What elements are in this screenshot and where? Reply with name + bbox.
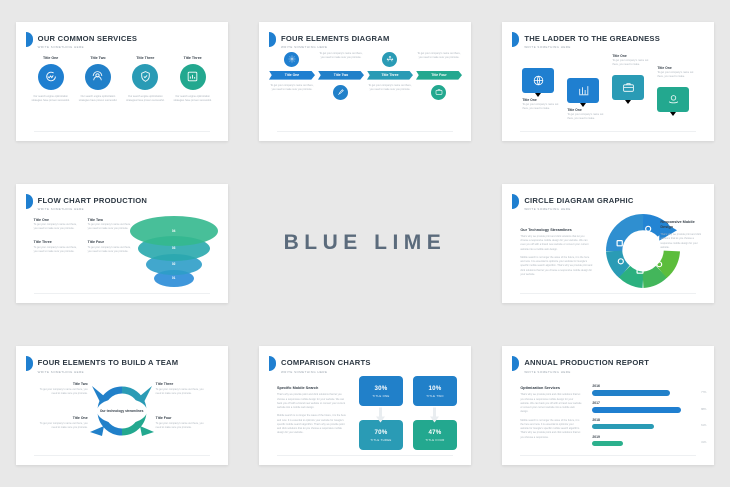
grid-cell-7: FOUR ELEMENTS TO BUILD A TEAM WRITE SOME…: [0, 325, 243, 487]
flow-title: Title Three: [34, 240, 80, 244]
slide-header: FOUR ELEMENTS DIAGRAM WRITE SOMETHING HE…: [281, 34, 390, 50]
grid-cell-3: THE LADDER TO THE GREADNESS WRITE SOMETH…: [487, 0, 730, 162]
bar-category-label: 2017: [592, 401, 706, 405]
ladder-title: Title One: [567, 108, 607, 112]
slide-ladder-to-greatness[interactable]: THE LADDER TO THE GREADNESS WRITE SOMETH…: [502, 22, 714, 141]
funnel-number: 01: [172, 276, 176, 280]
element-item[interactable]: To get your company's name out there, yo…: [416, 52, 462, 100]
slide-subtitle: WRITE SOMETHING HERE: [281, 370, 371, 374]
accent-leaf-icon: [512, 356, 519, 371]
element-text: To get your company's name out there, yo…: [318, 52, 364, 67]
slide-flow-chart-production[interactable]: FLOW CHART PRODUCTION WRITE SOMETHING HE…: [16, 184, 228, 303]
service-label: Title Three: [172, 56, 214, 60]
slide-subtitle: WRITE SOMETHING HERE: [281, 45, 390, 49]
report-left-text: Optimization Services That's why we prov…: [520, 386, 582, 444]
footer-divider: [520, 131, 696, 132]
circle-right-text: Responsive Mobile Design That's why we p…: [660, 220, 704, 250]
slide-title: FOUR ELEMENTS DIAGRAM: [281, 34, 390, 43]
ladder-title: Title One: [657, 66, 697, 70]
flow-text-grid: Title One To get your company's name out…: [34, 218, 134, 254]
flow-title: Title One: [34, 218, 80, 222]
footer-divider: [34, 131, 210, 132]
slide-header: THE LADDER TO THE GREADNESS WRITE SOMETH…: [524, 34, 660, 50]
service-item[interactable]: Title Two Our search engine optimization…: [77, 56, 119, 104]
ladder-title: Title One: [522, 98, 562, 102]
team-label: Title Four To get your company's name ou…: [156, 416, 206, 430]
funnel-level-4: 04: [130, 216, 218, 246]
chart-icon: [180, 64, 206, 90]
brand-logo-panel: BLUE LIME: [259, 184, 471, 303]
ladder-bubble[interactable]: [612, 75, 644, 100]
flow-item: Title One To get your company's name out…: [34, 218, 80, 232]
ladder-text: To get your company's name out there, yo…: [567, 113, 607, 121]
funnel-chart: 01 02 03 04: [130, 214, 218, 294]
team-text: To get your company's name out there, yo…: [156, 422, 206, 430]
team-center-label: Our technology streamlines: [100, 409, 144, 413]
ladder-label: Title One To get your company's name out…: [522, 98, 562, 112]
element-item[interactable]: To get your company's name out there, yo…: [318, 52, 364, 100]
slide-title: ANNUAL PRODUCTION REPORT: [524, 358, 649, 367]
service-item[interactable]: Title Three Our search engine optimizati…: [124, 56, 166, 104]
report-left-heading: Optimization Services: [520, 386, 582, 390]
comparison-left-p2: Mobile search is no longer the wave of t…: [277, 414, 349, 435]
comparison-left-p1: That's why we provide point and click so…: [277, 393, 349, 410]
ladder-bubble[interactable]: [522, 68, 554, 93]
slide-title: CIRCLE DIAGRAM GRAPHIC: [524, 196, 633, 205]
slide-subtitle: WRITE SOMETHING HERE: [38, 45, 138, 49]
grid-cell-5: BLUE LIME: [243, 162, 486, 324]
accent-leaf-icon: [269, 356, 276, 371]
grid-cell-9: ANNUAL PRODUCTION REPORT WRITE SOMETHING…: [487, 325, 730, 487]
circle-left-heading: Our Technology Streamlines: [520, 228, 592, 232]
slide-four-elements-team[interactable]: FOUR ELEMENTS TO BUILD A TEAM WRITE SOME…: [16, 346, 228, 465]
slide-header: FLOW CHART PRODUCTION WRITE SOMETHING HE…: [38, 196, 147, 212]
comparison-label: TITLE ONE: [372, 394, 389, 398]
flow-text: To get your company's name out there, yo…: [88, 246, 134, 254]
slide-circle-diagram-graphic[interactable]: CIRCLE DIAGRAM GRAPHIC WRITE SOMETHING H…: [502, 184, 714, 303]
service-text: Our search engine optimization strategie…: [77, 95, 119, 104]
slide-header: OUR COMMON SERVICES WRITE SOMETHING HERE: [38, 34, 138, 50]
service-text: Our search engine optimization strategie…: [124, 95, 166, 104]
report-bar-chart: 2016 77% 2017 88% 2018: [592, 384, 706, 452]
team-center-circle: Our technology streamlines: [97, 398, 147, 424]
grid-cell-8: COMPARISON CHARTS WRITE SOMETHING HERE S…: [243, 325, 486, 487]
slide-title: COMPARISON CHARTS: [281, 358, 371, 367]
bar-track: 61%: [592, 424, 706, 429]
slide-header: CIRCLE DIAGRAM GRAPHIC WRITE SOMETHING H…: [524, 196, 633, 212]
bar-value-label: 61%: [701, 424, 706, 427]
team-title: Title Three: [156, 382, 206, 386]
comparison-box-grid: 30% TITLE ONE 10% TITLE TWO 70% TITLE TH…: [359, 376, 459, 452]
team-label: Title One To get your company's name out…: [38, 416, 88, 430]
slide-header: COMPARISON CHARTS WRITE SOMETHING HERE: [281, 358, 371, 374]
footer-divider: [277, 455, 453, 456]
bar-track: 88%: [592, 407, 706, 412]
team-title: Title One: [38, 416, 88, 420]
circle-right-p: That's why we provide print and click so…: [660, 233, 704, 250]
team-label: Title Three To get your company's name o…: [156, 382, 206, 396]
team-title: Title Two: [38, 382, 88, 386]
slide-subtitle: WRITE SOMETHING HERE: [38, 207, 147, 211]
ladder-text: To get your company's name out there, yo…: [612, 59, 652, 67]
slide-grid: OUR COMMON SERVICES WRITE SOMETHING HERE…: [0, 0, 730, 487]
growth-icon: [567, 78, 599, 103]
element-text: To get your company's name out there, yo…: [416, 52, 462, 67]
service-label: Title One: [30, 56, 72, 60]
slide-title: FLOW CHART PRODUCTION: [38, 196, 147, 205]
accent-leaf-icon: [26, 356, 33, 371]
support-icon: [85, 64, 111, 90]
comparison-label: TITLE FOUR: [425, 438, 444, 442]
ladder-label: Title One To get your company's name out…: [612, 54, 652, 68]
circle-left-p1: That's why we provide print and click so…: [520, 235, 592, 252]
flow-item: Title Two To get your company's name out…: [88, 218, 134, 232]
slide-four-elements-diagram[interactable]: FOUR ELEMENTS DIAGRAM WRITE SOMETHING HE…: [259, 22, 471, 141]
slide-annual-production-report[interactable]: ANNUAL PRODUCTION REPORT WRITE SOMETHING…: [502, 346, 714, 465]
ladder-text: To get your company's name out there, yo…: [522, 103, 562, 111]
comparison-label: TITLE THREE: [370, 438, 391, 442]
service-item[interactable]: Title Three Our search engine optimizati…: [172, 56, 214, 104]
flow-title: Title Two: [88, 218, 134, 222]
team-text: To get your company's name out there, yo…: [38, 422, 88, 430]
bar-row: 2018 61%: [592, 418, 706, 429]
globe-icon: [522, 68, 554, 93]
slide-subtitle: WRITE SOMETHING HERE: [524, 207, 633, 211]
bar-category-label: 2016: [592, 384, 706, 388]
slide-subtitle: WRITE SOMETHING HERE: [524, 45, 660, 49]
bar-row: 2016 77%: [592, 384, 706, 395]
ladder-bubble[interactable]: [567, 78, 599, 103]
footer-divider: [34, 455, 210, 456]
circle-left-p2: Mobile search is no longer the wave of t…: [520, 256, 592, 277]
gear-icon: [284, 52, 299, 67]
grid-cell-4: FLOW CHART PRODUCTION WRITE SOMETHING HE…: [0, 162, 243, 324]
service-text: Our search engine optimization strategie…: [30, 95, 72, 104]
rocket-icon: [333, 85, 348, 100]
accent-leaf-icon: [269, 32, 276, 47]
handglobe-icon: [657, 87, 689, 112]
team-text: To get your company's name out there, yo…: [38, 388, 88, 396]
team-title: Title Four: [156, 416, 206, 420]
down-arrow-icon: [430, 407, 439, 423]
ladder-label: Title One To get your company's name out…: [657, 66, 697, 80]
comparison-percent: 47%: [428, 429, 441, 436]
footer-divider: [277, 131, 453, 132]
service-label: Title Two: [77, 56, 119, 60]
service-item[interactable]: Title One Our search engine optimization…: [30, 56, 72, 104]
elements-row: Title One To get your company's name out…: [269, 52, 461, 126]
bar-track: 77%: [592, 390, 706, 395]
briefcase-icon: [612, 75, 644, 100]
flow-item: Title Four To get your company's name ou…: [88, 240, 134, 254]
grid-cell-2: FOUR ELEMENTS DIAGRAM WRITE SOMETHING HE…: [243, 0, 486, 162]
element-item[interactable]: Title Three To get your company's name o…: [367, 52, 413, 92]
bar-fill: [592, 390, 669, 395]
flow-text: To get your company's name out there, yo…: [34, 246, 80, 254]
comparison-box[interactable]: 10% TITLE TWO: [413, 376, 457, 406]
funnel-number: 04: [172, 229, 176, 233]
element-banner: Title One: [269, 71, 315, 80]
flow-text: To get your company's name out there, yo…: [34, 223, 80, 231]
grid-cell-6: CIRCLE DIAGRAM GRAPHIC WRITE SOMETHING H…: [487, 162, 730, 324]
flow-title: Title Four: [88, 240, 134, 244]
flow-item: Title Three To get your company's name o…: [34, 240, 80, 254]
comparison-percent: 30%: [374, 385, 387, 392]
comparison-box[interactable]: 70% TITLE THREE: [359, 420, 403, 450]
bar-value-label: 77%: [701, 391, 706, 394]
comparison-label: TITLE TWO: [426, 394, 444, 398]
down-arrow-icon: [376, 407, 385, 423]
service-label: Title Three: [124, 56, 166, 60]
element-banner: Title Three: [367, 71, 413, 80]
bar-value-label: 88%: [701, 408, 706, 411]
bar-fill: [592, 407, 680, 412]
funnel-number: 03: [172, 246, 176, 250]
circle-left-text: Our Technology Streamlines That's why we…: [520, 228, 592, 281]
footer-divider: [520, 293, 696, 294]
report-left-p1: That's why we provide point and click so…: [520, 393, 582, 414]
slide-subtitle: WRITE SOMETHING HERE: [524, 370, 649, 374]
comparison-percent: 70%: [374, 429, 387, 436]
brand-logo: BLUE LIME: [284, 231, 447, 255]
slide-title: OUR COMMON SERVICES: [38, 34, 138, 43]
bar-value-label: 31%: [701, 441, 706, 444]
chat-icon: [38, 64, 64, 90]
flow-text: To get your company's name out there, yo…: [88, 223, 134, 231]
bar-track: 31%: [592, 441, 706, 446]
briefcase-icon: [431, 85, 446, 100]
bar-row: 2019 31%: [592, 435, 706, 446]
team-label: Title Two To get your company's name out…: [38, 382, 88, 396]
accent-leaf-icon: [512, 32, 519, 47]
slide-title: THE LADDER TO THE GREADNESS: [524, 34, 660, 43]
ladder-text: To get your company's name out there, yo…: [657, 71, 697, 79]
element-item[interactable]: Title One To get your company's name out…: [269, 52, 315, 92]
comparison-percent: 10%: [428, 385, 441, 392]
comparison-box[interactable]: 30% TITLE ONE: [359, 376, 403, 406]
ladder-label: Title One To get your company's name out…: [567, 108, 607, 122]
services-row: Title One Our search engine optimization…: [30, 56, 214, 104]
comparison-left-text: Specific Mobile Search That's why we pro…: [277, 386, 349, 439]
element-text: To get your company's name out there, yo…: [367, 84, 413, 92]
bar-category-label: 2019: [592, 435, 706, 439]
slide-header: FOUR ELEMENTS TO BUILD A TEAM WRITE SOME…: [38, 358, 179, 374]
element-banner: Title Four: [416, 71, 462, 80]
accent-leaf-icon: [26, 32, 33, 47]
grid-cell-1: OUR COMMON SERVICES WRITE SOMETHING HERE…: [0, 0, 243, 162]
bar-category-label: 2018: [592, 418, 706, 422]
footer-divider: [520, 455, 696, 456]
slide-subtitle: WRITE SOMETHING HERE: [38, 370, 179, 374]
accent-leaf-icon: [26, 194, 33, 209]
comparison-box[interactable]: 47% TITLE FOUR: [413, 420, 457, 450]
funnel-number: 02: [172, 262, 176, 266]
report-left-p2: Mobile search is no longer the wave of t…: [520, 419, 582, 440]
bar-fill: [592, 424, 653, 429]
element-text: To get your company's name out there, yo…: [269, 84, 315, 92]
ladder-title: Title One: [612, 54, 652, 58]
shield-icon: [132, 64, 158, 90]
slide-comparison-charts[interactable]: COMPARISON CHARTS WRITE SOMETHING HERE S…: [259, 346, 471, 465]
accent-leaf-icon: [512, 194, 519, 209]
network-icon: [382, 52, 397, 67]
service-text: Our search engine optimization strategie…: [172, 95, 214, 104]
ladder-bubble[interactable]: [657, 87, 689, 112]
slide-header: ANNUAL PRODUCTION REPORT WRITE SOMETHING…: [524, 358, 649, 374]
slide-title: FOUR ELEMENTS TO BUILD A TEAM: [38, 358, 179, 367]
team-text: To get your company's name out there, yo…: [156, 388, 206, 396]
comparison-left-heading: Specific Mobile Search: [277, 386, 349, 390]
slide-common-services[interactable]: OUR COMMON SERVICES WRITE SOMETHING HERE…: [16, 22, 228, 141]
element-banner: Title Two: [318, 71, 364, 80]
bar-fill: [592, 441, 623, 446]
circle-right-heading: Responsive Mobile Design: [660, 220, 704, 230]
bar-row: 2017 88%: [592, 401, 706, 412]
footer-divider: [34, 293, 210, 294]
